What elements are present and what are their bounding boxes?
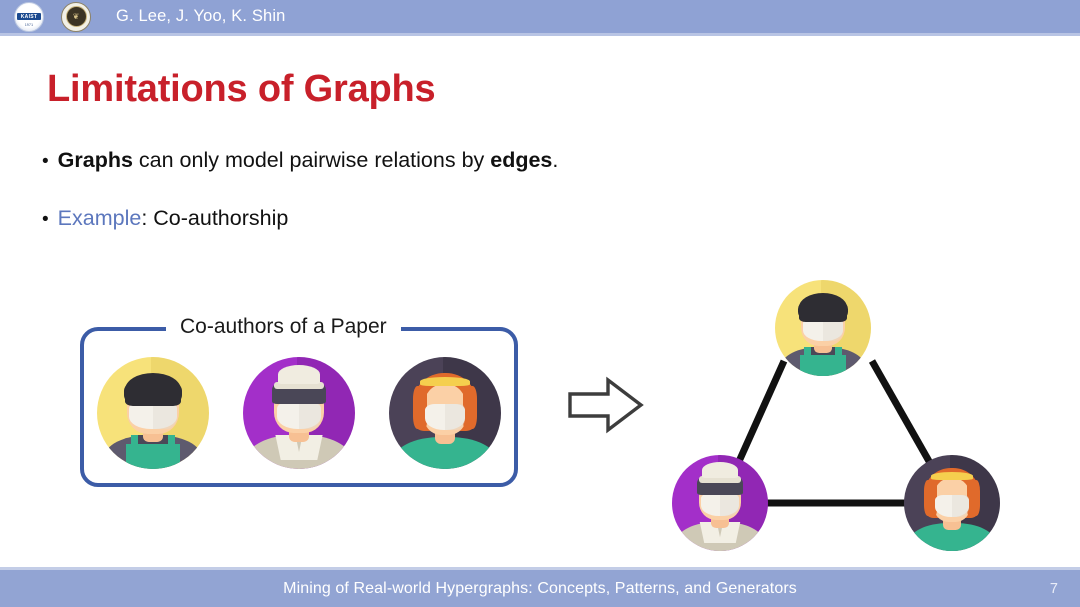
bullet-1-text: Graphs can only model pairwise relations… <box>58 148 559 173</box>
co-authors-group-label: Co-authors of a Paper <box>166 315 401 339</box>
header-divider <box>0 33 1080 36</box>
graph-node-avatar-person-c <box>904 455 1000 551</box>
bullet-2-text: Example: Co-authorship <box>58 206 289 231</box>
kaist-logo-text: KAIST <box>17 13 41 20</box>
avatar-person-b <box>243 357 355 469</box>
kaist-logo-subtext: 1971 <box>15 23 43 27</box>
page-title: Limitations of Graphs <box>47 68 436 111</box>
bullet-1-part-2: can only model pairwise relations by <box>133 148 490 172</box>
graph-node-avatar-person-a <box>775 280 871 376</box>
graph-edge-a-c <box>872 361 938 477</box>
footer-title: Mining of Real-world Hypergraphs: Concep… <box>283 580 797 598</box>
bullet-item-2: • Example: Co-authorship <box>42 206 288 231</box>
kaist-logo: KAIST 1971 <box>14 2 44 32</box>
graph-triangle-figure <box>650 265 1020 555</box>
graph-node-avatar-person-b <box>672 455 768 551</box>
co-authors-avatar-row <box>80 355 518 471</box>
bullet-marker-icon: • <box>42 152 49 171</box>
bullet-item-1: • Graphs can only model pairwise relatio… <box>42 148 558 173</box>
avatar-person-a <box>97 357 209 469</box>
seal-emblem-icon: ❦ <box>66 6 87 27</box>
bullet-1-part-4: . <box>552 148 558 172</box>
bullet-1-part-3: edges <box>490 148 552 172</box>
slide-footer: Mining of Real-world Hypergraphs: Concep… <box>0 570 1080 607</box>
page-number: 7 <box>1050 581 1058 597</box>
avatar-person-c <box>389 357 501 469</box>
bullet-1-part-1: Graphs <box>58 148 133 172</box>
right-arrow-icon <box>566 374 646 441</box>
bullet-marker-icon: • <box>42 210 49 229</box>
bullet-2-part-1: Example <box>58 206 142 230</box>
slide-header: KAIST 1971 ❦ G. Lee, J. Yoo, K. Shin <box>0 0 1080 33</box>
header-authors: G. Lee, J. Yoo, K. Shin <box>116 7 285 26</box>
bullet-2-part-2: : Co-authorship <box>141 206 288 230</box>
university-seal-logo: ❦ <box>61 2 91 32</box>
